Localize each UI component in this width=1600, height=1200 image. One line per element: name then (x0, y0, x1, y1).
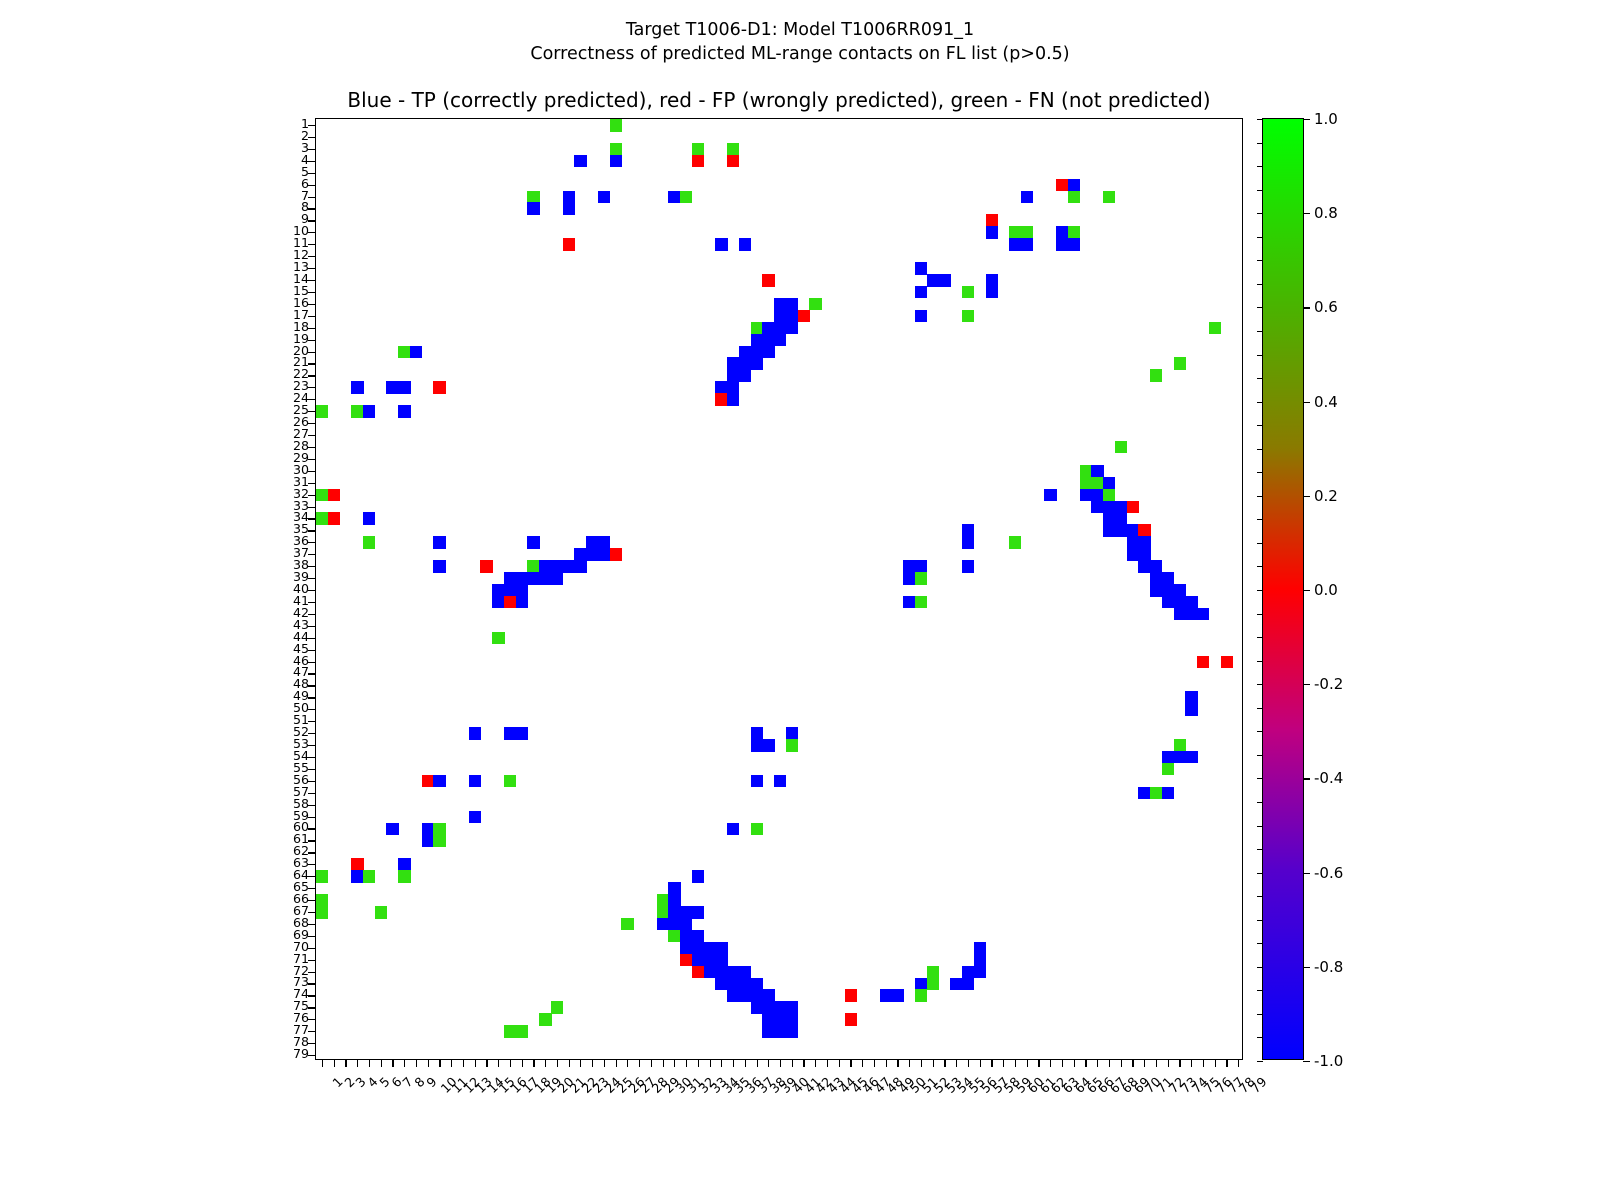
colorbar-minor-tick (1257, 307, 1263, 308)
contact-cell-tp (492, 596, 504, 609)
contact-cell-tp (586, 548, 598, 561)
y-tick (308, 828, 316, 829)
contact-cell-tp (516, 727, 528, 740)
x-tick (710, 1059, 711, 1067)
contact-cell-tp (962, 966, 974, 979)
contact-cell-tp (903, 596, 915, 609)
x-tick (486, 1059, 487, 1067)
y-tick (308, 411, 316, 412)
contact-cell-tp (668, 882, 680, 895)
y-tick (308, 256, 316, 257)
contact-cell-tp (563, 202, 575, 215)
contact-cell-tp (704, 954, 716, 967)
colorbar-tick (1303, 778, 1310, 779)
x-tick (839, 1059, 840, 1067)
x-tick (580, 1059, 581, 1067)
x-tick (627, 1059, 628, 1067)
contact-cell-fn (316, 894, 328, 907)
colorbar-tick (1303, 873, 1310, 874)
contact-cell-fp (610, 548, 622, 561)
contact-cell-tp (422, 834, 434, 847)
colorbar-tick-label: -0.8 (1314, 958, 1343, 976)
y-tick (308, 638, 316, 639)
x-tick (1156, 1059, 1157, 1067)
contact-cell-tp (751, 1001, 763, 1014)
y-tick-label: 79 (251, 1048, 309, 1060)
contact-cell-fp (1197, 656, 1209, 669)
colorbar-minor-tick (1257, 260, 1263, 261)
y-tick (308, 447, 316, 448)
colorbar-minor-tick (1257, 472, 1263, 473)
contact-cell-tp (1138, 536, 1150, 549)
contact-cell-tp (880, 989, 892, 1002)
contact-cell-fn (363, 536, 375, 549)
contact-cell-fn (668, 930, 680, 943)
contact-cell-fp (986, 214, 998, 227)
contact-cell-tp (751, 739, 763, 752)
contact-cell-fn (351, 405, 363, 418)
contact-cell-fn (1150, 369, 1162, 382)
contact-cell-tp (974, 966, 986, 979)
y-tick (308, 948, 316, 949)
contact-cell-tp (1185, 608, 1197, 621)
contact-cell-fp (692, 155, 704, 168)
x-tick (498, 1059, 499, 1067)
contact-cell-tp (786, 322, 798, 335)
contact-cell-tp (751, 357, 763, 370)
contact-cell-tp (516, 596, 528, 609)
contact-cell-tp (751, 775, 763, 788)
contact-cell-tp (739, 966, 751, 979)
y-tick (308, 530, 316, 531)
x-tick (428, 1059, 429, 1067)
contact-cell-tp (1103, 477, 1115, 490)
y-tick (308, 363, 316, 364)
x-tick (1144, 1059, 1145, 1067)
contact-cell-tp (1056, 238, 1068, 251)
x-tick (345, 1059, 346, 1067)
contact-cell-tp (704, 966, 716, 979)
x-tick (463, 1059, 464, 1067)
contact-cell-tp (692, 954, 704, 967)
contact-cell-tp (363, 512, 375, 525)
y-tick (308, 662, 316, 663)
contact-cell-fn (962, 310, 974, 323)
contact-cell-tp (974, 942, 986, 955)
x-tick (616, 1059, 617, 1067)
x-tick (439, 1059, 440, 1067)
contact-cell-fn (1150, 787, 1162, 800)
contact-cell-fp (563, 238, 575, 251)
contact-cell-tp (715, 954, 727, 967)
colorbar-minor-tick (1257, 284, 1263, 285)
x-tick (369, 1059, 370, 1067)
contact-cell-tp (739, 989, 751, 1002)
contact-cell-tp (516, 572, 528, 585)
x-tick (381, 1059, 382, 1067)
contact-cell-tp (774, 322, 786, 335)
contact-cell-tp (351, 870, 363, 883)
colorbar-tick (1303, 213, 1310, 214)
x-tick (897, 1059, 898, 1067)
y-tick (308, 697, 316, 698)
colorbar-minor-tick (1257, 637, 1263, 638)
contact-cell-fn (398, 346, 410, 359)
colorbar-tick-label: -0.6 (1314, 864, 1343, 882)
contact-cell-fn (1009, 536, 1021, 549)
legend-caption: Blue - TP (correctly predicted), red - F… (315, 88, 1243, 112)
x-tick (334, 1059, 335, 1067)
contact-cell-tp (903, 560, 915, 573)
x-axis: 1234567891011121314151617181920212223242… (315, 1070, 1275, 1160)
contact-cell-tp (915, 286, 927, 299)
contact-cell-tp (1185, 751, 1197, 764)
contact-cell-tp (1185, 691, 1197, 704)
contact-cell-tp (598, 536, 610, 549)
y-tick (308, 626, 316, 627)
colorbar-minor-tick (1257, 990, 1263, 991)
contact-cell-tp (974, 954, 986, 967)
contact-cell-tp (469, 727, 481, 740)
contact-cell-tp (398, 405, 410, 418)
contact-map-figure: Target T1006-D1: Model T1006RR091_1 Corr… (0, 0, 1600, 1200)
x-tick (522, 1059, 523, 1067)
contact-cell-tp (386, 381, 398, 394)
contact-cell-tp (563, 191, 575, 204)
y-tick (308, 554, 316, 555)
x-tick (698, 1059, 699, 1067)
contact-cell-tp (739, 369, 751, 382)
y-tick (308, 423, 316, 424)
x-tick (1121, 1059, 1122, 1067)
contact-cell-tp (433, 560, 445, 573)
contact-cell-tp (610, 155, 622, 168)
contact-cell-tp (1127, 536, 1139, 549)
contact-cell-tp (962, 560, 974, 573)
colorbar-minor-tick (1257, 778, 1263, 779)
colorbar-tick-label: 0.8 (1314, 204, 1338, 222)
y-tick (308, 566, 316, 567)
y-tick (308, 399, 316, 400)
y-tick (308, 518, 316, 519)
y-tick (308, 435, 316, 436)
colorbar-tick (1303, 684, 1310, 685)
contact-cell-tp (1103, 524, 1115, 537)
contact-cell-tp (715, 978, 727, 991)
y-tick (308, 864, 316, 865)
contact-cell-fp (422, 775, 434, 788)
x-tick (357, 1059, 358, 1067)
contact-cell-tp (786, 1013, 798, 1026)
contact-cell-fn (1080, 477, 1092, 490)
x-tick (886, 1059, 887, 1067)
contact-cell-fn (316, 489, 328, 502)
contact-cell-tp (774, 298, 786, 311)
x-tick (850, 1059, 851, 1067)
contact-cell-fn (1091, 477, 1103, 490)
contact-cell-tp (574, 155, 586, 168)
contact-cell-tp (727, 989, 739, 1002)
y-tick (308, 328, 316, 329)
colorbar-minor-tick (1257, 425, 1263, 426)
contact-map-plot-area (315, 118, 1243, 1060)
contact-cell-tp (469, 811, 481, 824)
contact-cell-fn (809, 298, 821, 311)
y-tick (308, 876, 316, 877)
contact-cell-tp (551, 572, 563, 585)
contact-cell-tp (939, 274, 951, 287)
contact-cell-tp (351, 381, 363, 394)
colorbar-minor-tick (1257, 684, 1263, 685)
contact-cell-tp (1174, 596, 1186, 609)
x-tick (604, 1059, 605, 1067)
x-tick (862, 1059, 863, 1067)
x-tick (803, 1059, 804, 1067)
y-tick (308, 125, 316, 126)
x-tick (674, 1059, 675, 1067)
contact-cell-fn (551, 1001, 563, 1014)
contact-cell-tp (962, 536, 974, 549)
contact-cell-fn (915, 989, 927, 1002)
contact-cell-tp (574, 548, 586, 561)
contact-cell-fn (657, 894, 669, 907)
x-tick (956, 1059, 957, 1067)
x-tick (827, 1059, 828, 1067)
y-axis: 1234567891011121314151617181920212223242… (245, 118, 309, 1060)
contact-cell-fp (1221, 656, 1233, 669)
contact-cell-tp (1115, 512, 1127, 525)
contact-cell-fn (915, 572, 927, 585)
contact-cell-tp (774, 310, 786, 323)
x-tick (451, 1059, 452, 1067)
y-tick (308, 650, 316, 651)
x-tick (404, 1059, 405, 1067)
contact-cell-tp (762, 989, 774, 1002)
contact-cell-tp (1127, 524, 1139, 537)
y-tick (308, 244, 316, 245)
contact-cell-tp (774, 334, 786, 347)
contact-cell-tp (692, 870, 704, 883)
y-tick (308, 185, 316, 186)
contact-cell-tp (762, 322, 774, 335)
contact-cell-tp (786, 310, 798, 323)
y-tick (308, 208, 316, 209)
colorbar-minor-tick (1257, 331, 1263, 332)
contact-cell-tp (574, 560, 586, 573)
contact-cell-tp (516, 584, 528, 597)
contact-cell-tp (762, 334, 774, 347)
y-tick (308, 375, 316, 376)
contact-cell-tp (1056, 226, 1068, 239)
y-tick (308, 840, 316, 841)
colorbar-minor-tick (1257, 1061, 1263, 1062)
contact-cell-fn (539, 1013, 551, 1026)
contact-cell-tp (774, 775, 786, 788)
colorbar-minor-tick (1257, 566, 1263, 567)
x-tick (991, 1059, 992, 1067)
contact-cell-fn (1209, 322, 1221, 335)
colorbar-tick-label: -0.4 (1314, 769, 1343, 787)
colorbar-minor-tick (1257, 661, 1263, 662)
contact-cell-tp (1103, 501, 1115, 514)
contact-cell-fn (751, 823, 763, 836)
contact-cell-tp (1080, 489, 1092, 502)
contact-cell-tp (680, 906, 692, 919)
contact-cell-tp (1162, 787, 1174, 800)
y-tick (308, 614, 316, 615)
contact-cell-tp (1150, 560, 1162, 573)
contact-cell-fn (504, 775, 516, 788)
y-tick (308, 757, 316, 758)
contact-cell-tp (551, 560, 563, 573)
colorbar-minor-tick (1257, 614, 1263, 615)
y-tick (308, 161, 316, 162)
contact-cell-fn (433, 834, 445, 847)
x-tick (780, 1059, 781, 1067)
contact-cell-tp (1127, 548, 1139, 561)
x-tick (569, 1059, 570, 1067)
x-tick (416, 1059, 417, 1067)
contact-cell-fn (316, 405, 328, 418)
contact-cell-fn (398, 870, 410, 883)
contact-cell-fp (798, 310, 810, 323)
contact-cell-tp (680, 918, 692, 931)
x-tick (944, 1059, 945, 1067)
contact-cell-tp (1103, 512, 1115, 525)
contact-cell-tp (727, 823, 739, 836)
y-tick (308, 805, 316, 806)
contact-cell-tp (727, 978, 739, 991)
contact-cell-tp (762, 739, 774, 752)
contact-cell-tp (410, 346, 422, 359)
contact-cell-fn (527, 191, 539, 204)
contact-cell-tp (786, 1001, 798, 1014)
x-tick (1085, 1059, 1086, 1067)
contact-cell-tp (1091, 501, 1103, 514)
contact-cell-tp (422, 823, 434, 836)
y-tick (308, 459, 316, 460)
y-tick (308, 817, 316, 818)
contact-cell-tp (1091, 465, 1103, 478)
y-tick (308, 280, 316, 281)
contact-cell-fp (762, 274, 774, 287)
contact-cell-fn (316, 870, 328, 883)
contact-cell-tp (680, 942, 692, 955)
x-tick (475, 1059, 476, 1067)
contact-cell-tp (504, 572, 516, 585)
contact-cell-tp (915, 978, 927, 991)
contact-cell-tp (1162, 572, 1174, 585)
contact-cell-fn (786, 739, 798, 752)
contact-cell-fp (1127, 501, 1139, 514)
contact-cell-fn (610, 143, 622, 156)
contact-cell-tp (668, 918, 680, 931)
contact-cell-fn (1009, 226, 1021, 239)
contact-cell-fn (751, 322, 763, 335)
contact-cell-tp (774, 1001, 786, 1014)
contact-cell-tp (386, 823, 398, 836)
contact-cell-fp (433, 381, 445, 394)
y-tick (308, 542, 316, 543)
x-tick (686, 1059, 687, 1067)
contact-cell-tp (762, 1025, 774, 1038)
x-tick (663, 1059, 664, 1067)
y-tick (308, 900, 316, 901)
y-tick (308, 471, 316, 472)
contact-cell-fn (492, 632, 504, 645)
contact-cell-tp (986, 274, 998, 287)
x-tick (1027, 1059, 1028, 1067)
x-tick (745, 1059, 746, 1067)
contact-cell-tp (903, 572, 915, 585)
y-tick (308, 924, 316, 925)
contact-cell-fn (962, 286, 974, 299)
x-tick (1226, 1059, 1227, 1067)
contact-cell-tp (786, 1025, 798, 1038)
contact-cell-fn (516, 1025, 528, 1038)
contact-cell-tp (927, 274, 939, 287)
contact-cell-fn (927, 966, 939, 979)
contact-cell-tp (762, 1001, 774, 1014)
contact-cell-tp (504, 727, 516, 740)
contact-cell-fn (1162, 763, 1174, 776)
x-tick (592, 1059, 593, 1067)
contact-cell-fn (1115, 441, 1127, 454)
colorbar-minor-tick (1257, 826, 1263, 827)
contact-cell-fp (845, 989, 857, 1002)
y-tick (308, 387, 316, 388)
colorbar-tick-label: 0.6 (1314, 298, 1338, 316)
contact-cell-tp (739, 346, 751, 359)
colorbar-minor-tick (1257, 213, 1263, 214)
contact-cell-tp (1068, 238, 1080, 251)
contact-cell-tp (527, 202, 539, 215)
x-tick (721, 1059, 722, 1067)
y-tick (308, 793, 316, 794)
x-tick (980, 1059, 981, 1067)
contact-cell-tp (527, 572, 539, 585)
x-tick (815, 1059, 816, 1067)
contact-cell-tp (751, 334, 763, 347)
contact-cell-tp (398, 381, 410, 394)
contact-cell-fp (680, 954, 692, 967)
contact-cell-fn (1080, 465, 1092, 478)
contact-cell-fn (727, 143, 739, 156)
contact-cell-tp (786, 298, 798, 311)
contact-cell-tp (1150, 584, 1162, 597)
y-tick (308, 769, 316, 770)
contact-cell-tp (1009, 238, 1021, 251)
y-tick (308, 292, 316, 293)
contact-cell-tp (727, 966, 739, 979)
y-tick (308, 852, 316, 853)
contact-cell-tp (1115, 501, 1127, 514)
contact-cell-tp (539, 560, 551, 573)
x-tick (1062, 1059, 1063, 1067)
contact-cell-tp (563, 560, 575, 573)
contact-cell-fn (927, 978, 939, 991)
contact-cell-tp (751, 346, 763, 359)
y-tick (308, 685, 316, 686)
y-tick (308, 745, 316, 746)
colorbar-minor-tick (1257, 731, 1263, 732)
x-tick (909, 1059, 910, 1067)
colorbar-tick (1303, 402, 1310, 403)
contact-cell-tp (1185, 596, 1197, 609)
contact-cell-fp (692, 966, 704, 979)
y-tick (308, 1019, 316, 1020)
contact-cell-tp (739, 238, 751, 251)
